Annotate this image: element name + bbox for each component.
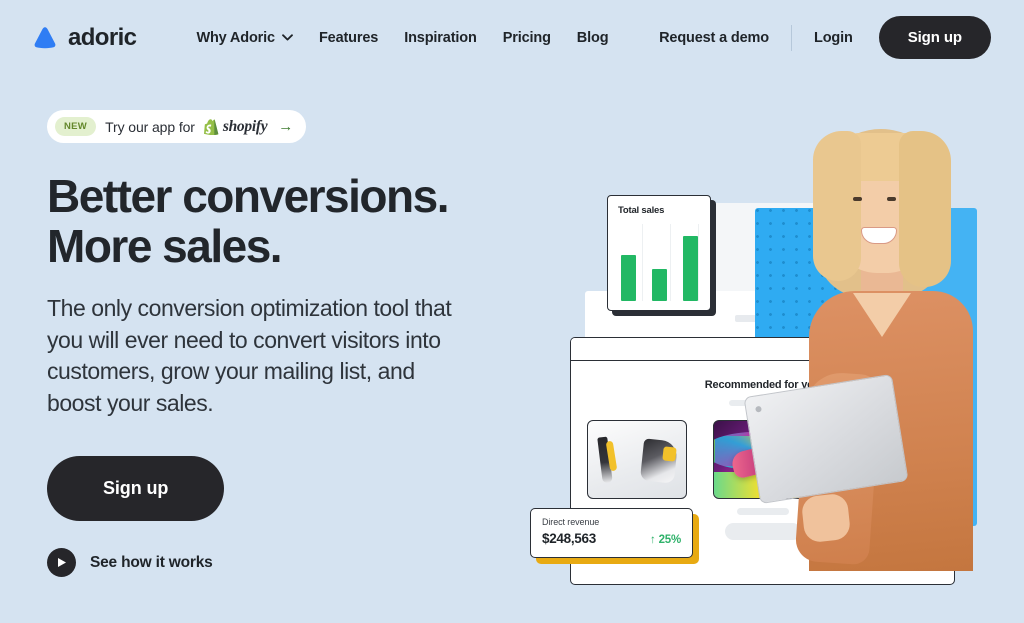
shopify-promo-text: Try our app for	[105, 119, 195, 135]
nav-link-label: Blog	[577, 30, 609, 46]
shopify-wordmark: shopify	[223, 118, 267, 136]
total-sales-title: Total sales	[618, 205, 701, 216]
request-demo-link[interactable]: Request a demo	[659, 30, 769, 46]
chart-bar	[652, 269, 667, 301]
eye-left	[853, 197, 862, 201]
adoric-triangle-logo-icon	[31, 24, 59, 52]
arrow-right-icon: →	[278, 119, 293, 134]
nav-link-why-adoric[interactable]: Why Adoric	[196, 30, 293, 46]
brand-logo[interactable]: adoric	[31, 24, 136, 52]
direct-revenue-row: $248,563 ↑ 25%	[542, 531, 681, 546]
see-how-it-works-label: See how it works	[90, 554, 213, 572]
nav-links: Why Adoric Features Inspiration Pricing …	[196, 30, 608, 46]
new-tag: NEW	[55, 117, 96, 136]
shopify-logo: shopify	[204, 118, 267, 136]
nav-actions: Request a demo Login Sign up	[659, 16, 991, 59]
hero-subheading: The only conversion optimization tool th…	[47, 293, 467, 419]
product-title-placeholder	[737, 508, 789, 515]
hero-signup-button[interactable]: Sign up	[47, 456, 224, 521]
shoe-accent	[662, 446, 676, 461]
direct-revenue-amount: $248,563	[542, 531, 596, 546]
chart-bar	[683, 236, 698, 301]
woman-with-tablet-photo	[795, 123, 985, 563]
see-how-it-works-link[interactable]: See how it works	[47, 548, 213, 577]
tablet-camera-icon	[755, 406, 762, 413]
chart-gridline	[670, 224, 671, 301]
chevron-down-icon	[282, 34, 293, 41]
nav-link-label: Pricing	[503, 30, 551, 46]
total-sales-bar-chart	[618, 224, 701, 301]
product-image	[587, 420, 687, 499]
nav-signup-button[interactable]: Sign up	[879, 16, 991, 59]
play-triangle-icon	[57, 557, 67, 568]
nav-link-label: Why Adoric	[196, 30, 275, 46]
nav-link-features[interactable]: Features	[319, 30, 378, 46]
headline-line-2: More sales.	[47, 220, 281, 272]
hero-illustration: Total sales Recommended for you	[525, 95, 995, 595]
nav-link-blog[interactable]: Blog	[577, 30, 609, 46]
total-sales-card: Total sales	[607, 195, 711, 311]
chart-gridline	[642, 224, 643, 301]
login-link[interactable]: Login	[814, 30, 853, 46]
hair-left	[813, 131, 861, 281]
nav-link-inspiration[interactable]: Inspiration	[404, 30, 476, 46]
brand-name: adoric	[68, 24, 136, 52]
hair-right	[899, 131, 951, 287]
shopify-promo-badge[interactable]: NEW Try our app for shopify →	[47, 110, 306, 143]
headline-line-1: Better conversions.	[47, 170, 448, 222]
page-title: Better conversions. More sales.	[47, 171, 517, 271]
nav-divider	[791, 25, 792, 51]
direct-revenue-card: Direct revenue $248,563 ↑ 25%	[530, 508, 693, 558]
nav-link-label: Inspiration	[404, 30, 476, 46]
product-button-placeholder	[725, 523, 801, 540]
chart-bar	[621, 255, 636, 301]
nav-link-pricing[interactable]: Pricing	[503, 30, 551, 46]
direct-revenue-delta: ↑ 25%	[650, 534, 681, 546]
eye-right	[887, 197, 896, 201]
nav-link-label: Features	[319, 30, 378, 46]
play-icon	[47, 548, 76, 577]
direct-revenue-label: Direct revenue	[542, 517, 681, 527]
shopify-bag-icon	[204, 118, 219, 135]
chart-gridline	[698, 224, 699, 301]
hand	[801, 493, 852, 544]
top-navigation-bar: adoric Why Adoric Features Inspiration P…	[0, 0, 1024, 75]
